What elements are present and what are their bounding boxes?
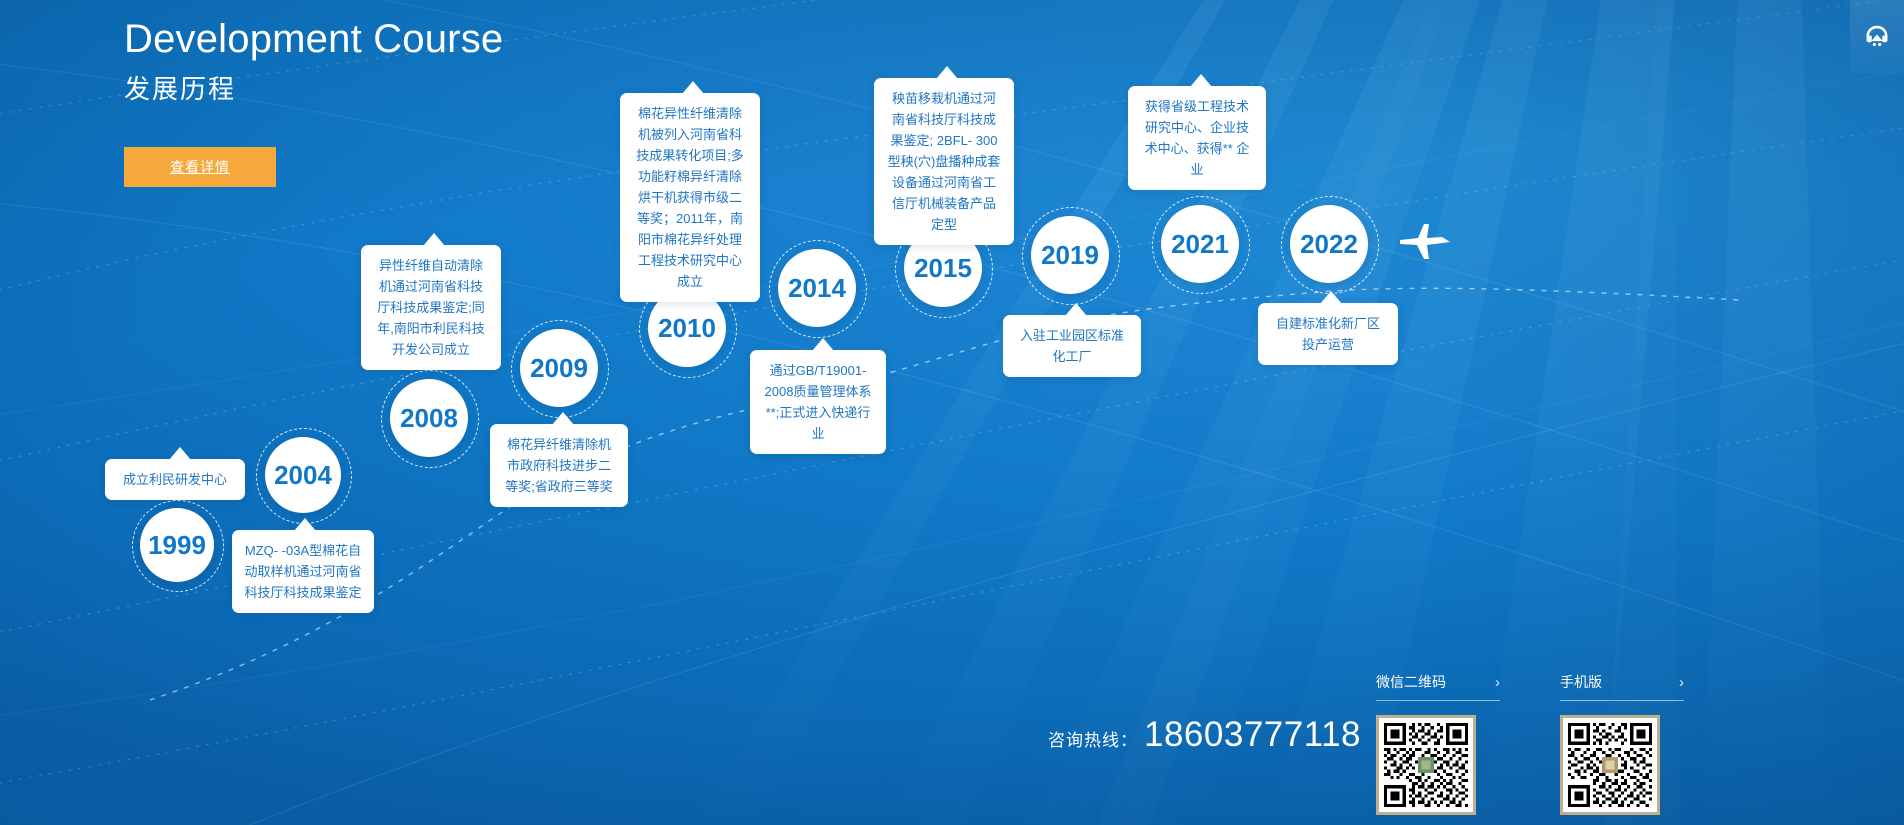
timeline-card-text-1999: 成立利民研发中心 bbox=[117, 469, 233, 490]
card-pointer-icon bbox=[423, 233, 445, 246]
timeline-card-1999[interactable]: 成立利民研发中心 bbox=[105, 459, 245, 500]
chevron-right-icon: › bbox=[1679, 674, 1684, 691]
qr-wechat-image bbox=[1376, 715, 1476, 815]
timeline-card-2021[interactable]: 获得省级工程技术研究中心、企业技术中心、获得** 企业 bbox=[1128, 86, 1266, 190]
qr-mobile-link[interactable]: 手机版 › bbox=[1560, 672, 1684, 701]
hotline-label: 咨询热线： bbox=[1048, 726, 1138, 751]
hotline-number: 18603777118 bbox=[1144, 715, 1361, 755]
card-pointer-icon bbox=[169, 447, 191, 460]
timeline-card-text-2004: MZQ- -03A型棉花自动取样机通过河南省科技厅科技成果鉴定 bbox=[244, 540, 362, 603]
year-circle-2019[interactable]: 2019 bbox=[1031, 216, 1109, 294]
page-title-en: Development Course bbox=[124, 16, 503, 62]
page-stage: Development Course 发展历程 查看详情 1999 成立利民研发… bbox=[0, 0, 1904, 825]
card-pointer-icon bbox=[552, 412, 574, 425]
qr-wechat-block: 微信二维码 › bbox=[1376, 672, 1500, 815]
card-pointer-icon bbox=[682, 81, 704, 94]
timeline-card-2014[interactable]: 通过GB/T19001-2008质量管理体系**;正式进入快递行业 bbox=[750, 350, 886, 454]
card-pointer-icon bbox=[812, 338, 834, 351]
year-circle-1999[interactable]: 1999 bbox=[140, 508, 214, 582]
timeline-card-2022[interactable]: 自建标准化新厂区投产运营 bbox=[1258, 303, 1398, 365]
view-detail-button[interactable]: 查看详情 bbox=[124, 147, 276, 187]
airplane-icon bbox=[1398, 218, 1454, 271]
timeline-card-2015[interactable]: 秧苗移栽机通过河南省科技厅科技成果鉴定; 2BFL- 300型秧(穴)盘播种成套… bbox=[874, 78, 1014, 245]
headset-icon bbox=[1862, 22, 1892, 52]
card-pointer-icon bbox=[936, 66, 958, 79]
timeline-card-text-2019: 入驻工业园区标准化工厂 bbox=[1015, 325, 1129, 367]
year-circle-2008[interactable]: 2008 bbox=[390, 379, 468, 457]
timeline-card-text-2008: 异性纤维自动清除机通过河南省科技厅科技成果鉴定;同年,南阳市利民科技开发公司成立 bbox=[373, 255, 489, 360]
page-title-cn: 发展历程 bbox=[124, 74, 503, 105]
timeline-card-text-2014: 通过GB/T19001-2008质量管理体系**;正式进入快递行业 bbox=[762, 360, 874, 444]
year-circle-2004[interactable]: 2004 bbox=[265, 437, 341, 513]
timeline-card-2010[interactable]: 棉花异性纤维清除机被列入河南省科技成果转化项目;多功能籽棉异纤清除烘干机获得市级… bbox=[620, 93, 760, 302]
timeline-card-text-2022: 自建标准化新厂区投产运营 bbox=[1270, 313, 1386, 355]
timeline-card-text-2021: 获得省级工程技术研究中心、企业技术中心、获得** 企业 bbox=[1140, 96, 1254, 180]
page-header: Development Course 发展历程 查看详情 bbox=[124, 16, 503, 187]
card-pointer-icon bbox=[294, 518, 316, 531]
timeline-card-text-2015: 秧苗移栽机通过河南省科技厅科技成果鉴定; 2BFL- 300型秧(穴)盘播种成套… bbox=[886, 88, 1002, 235]
year-circle-2009[interactable]: 2009 bbox=[520, 329, 598, 407]
qr-mobile-block: 手机版 › bbox=[1560, 672, 1684, 815]
timeline-card-2019[interactable]: 入驻工业园区标准化工厂 bbox=[1003, 315, 1141, 377]
year-circle-2021[interactable]: 2021 bbox=[1161, 205, 1239, 283]
qr-mobile-label: 手机版 bbox=[1560, 672, 1602, 692]
customer-service-button[interactable] bbox=[1850, 0, 1904, 74]
qr-wechat-link[interactable]: 微信二维码 › bbox=[1376, 672, 1500, 701]
year-circle-2022[interactable]: 2022 bbox=[1290, 205, 1368, 283]
qr-mobile-image bbox=[1560, 715, 1660, 815]
timeline-card-2004[interactable]: MZQ- -03A型棉花自动取样机通过河南省科技厅科技成果鉴定 bbox=[232, 530, 374, 613]
qr-wechat-label: 微信二维码 bbox=[1376, 672, 1446, 692]
card-pointer-icon bbox=[1065, 303, 1087, 316]
timeline-card-text-2009: 棉花异纤维清除机市政府科技进步二等奖;省政府三等奖 bbox=[502, 434, 616, 497]
chevron-right-icon: › bbox=[1495, 674, 1500, 691]
timeline-card-2009[interactable]: 棉花异纤维清除机市政府科技进步二等奖;省政府三等奖 bbox=[490, 424, 628, 507]
year-circle-2014[interactable]: 2014 bbox=[778, 249, 856, 327]
hotline: 咨询热线： 18603777118 bbox=[1048, 715, 1361, 755]
card-pointer-icon bbox=[1190, 74, 1212, 87]
card-pointer-icon bbox=[1320, 291, 1342, 304]
timeline-card-text-2010: 棉花异性纤维清除机被列入河南省科技成果转化项目;多功能籽棉异纤清除烘干机获得市级… bbox=[632, 103, 748, 292]
view-detail-label: 查看详情 bbox=[170, 157, 230, 177]
timeline-card-2008[interactable]: 异性纤维自动清除机通过河南省科技厅科技成果鉴定;同年,南阳市利民科技开发公司成立 bbox=[361, 245, 501, 370]
